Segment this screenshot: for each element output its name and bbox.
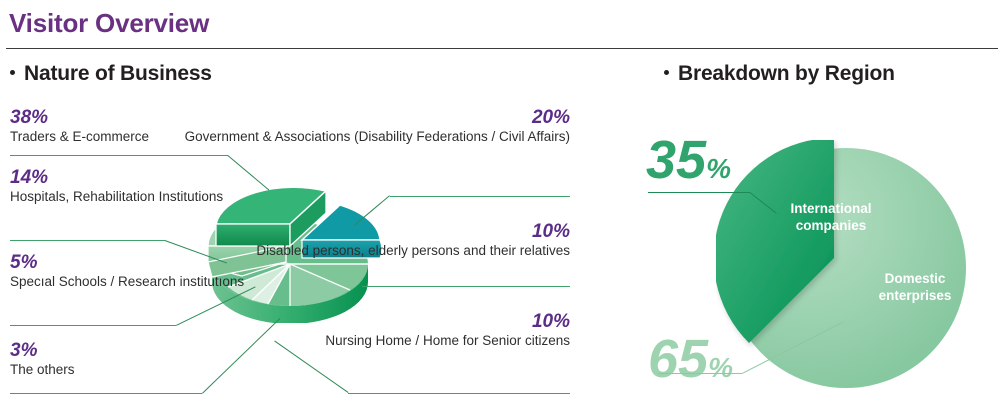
page-title: Visitor Overview xyxy=(9,8,209,39)
bullet-icon xyxy=(664,70,669,75)
slice-label-domestic: Domestic enterprises xyxy=(860,270,970,304)
section-heading-nature-of-business: Nature of Business xyxy=(10,62,212,86)
callout-description: Government & Associations (Disability Fe… xyxy=(185,129,570,145)
callout-rule-special-schools xyxy=(10,325,176,326)
callout-government: 20% Government & Associations (Disabilit… xyxy=(185,108,570,145)
region-percent-international-number: 35 xyxy=(646,130,706,190)
callout-description: Hospitals, Rehabilitation Institutions xyxy=(10,189,223,205)
bullet-icon xyxy=(10,70,15,75)
callout-rule-nursing-home xyxy=(348,393,570,394)
infographic-canvas: Visitor Overview Nature of Business Brea… xyxy=(0,0,1004,419)
callout-traders: 38% Traders & E-commerce xyxy=(10,108,149,145)
slice-label-international: International companies xyxy=(776,200,886,234)
callout-hospitals: 14% Hospitals, Rehabilitation Institutio… xyxy=(10,168,223,205)
region-percent-domestic: 65% xyxy=(648,332,733,386)
region-percent-international: 35% xyxy=(646,133,731,187)
callout-rule-disabled-persons xyxy=(362,286,570,287)
callout-nursing-home: 10% Nursing Home / Home for Senior citiz… xyxy=(325,312,570,349)
callout-rule-government xyxy=(390,196,570,197)
region-percent-domestic-number: 65 xyxy=(648,329,708,389)
callout-disabled-persons: 10% Disabled persons, elderly persons an… xyxy=(256,222,570,259)
callout-description: Traders & E-commerce xyxy=(10,129,149,145)
callout-rule-others xyxy=(10,393,202,394)
callout-percent: 10% xyxy=(325,312,570,332)
callout-percent: 14% xyxy=(10,168,223,188)
callout-rule-hospitals xyxy=(10,240,165,241)
callout-percent: 5% xyxy=(10,253,244,273)
section-heading-region-label: Breakdown by Region xyxy=(678,62,895,85)
title-divider xyxy=(6,48,998,49)
callout-special-schools: 5% Specıal Schools / Research institutıo… xyxy=(10,253,244,290)
callout-description: The others xyxy=(10,362,75,378)
region-rule-domestic xyxy=(658,373,742,374)
region-percent-international-symbol: % xyxy=(706,153,731,184)
region-rule-international xyxy=(648,192,750,193)
section-heading-breakdown-by-region: Breakdown by Region xyxy=(664,62,895,86)
callout-percent: 38% xyxy=(10,108,149,128)
callout-description: Specıal Schools / Research institutıons xyxy=(10,274,244,290)
callout-percent: 3% xyxy=(10,341,75,361)
callout-description: Disabled persons, elderly persons and th… xyxy=(256,243,570,259)
callout-rule-traders xyxy=(10,155,228,156)
region-percent-domestic-symbol: % xyxy=(708,352,733,383)
callout-leader-others xyxy=(202,318,280,394)
section-heading-nature-label: Nature of Business xyxy=(24,62,212,85)
breakdown-by-region-pie-chart xyxy=(716,140,968,392)
callout-others: 3% The others xyxy=(10,341,75,378)
callout-description: Nursing Home / Home for Senior citizens xyxy=(325,333,570,349)
callout-percent: 20% xyxy=(185,108,570,128)
callout-percent: 10% xyxy=(256,222,570,242)
